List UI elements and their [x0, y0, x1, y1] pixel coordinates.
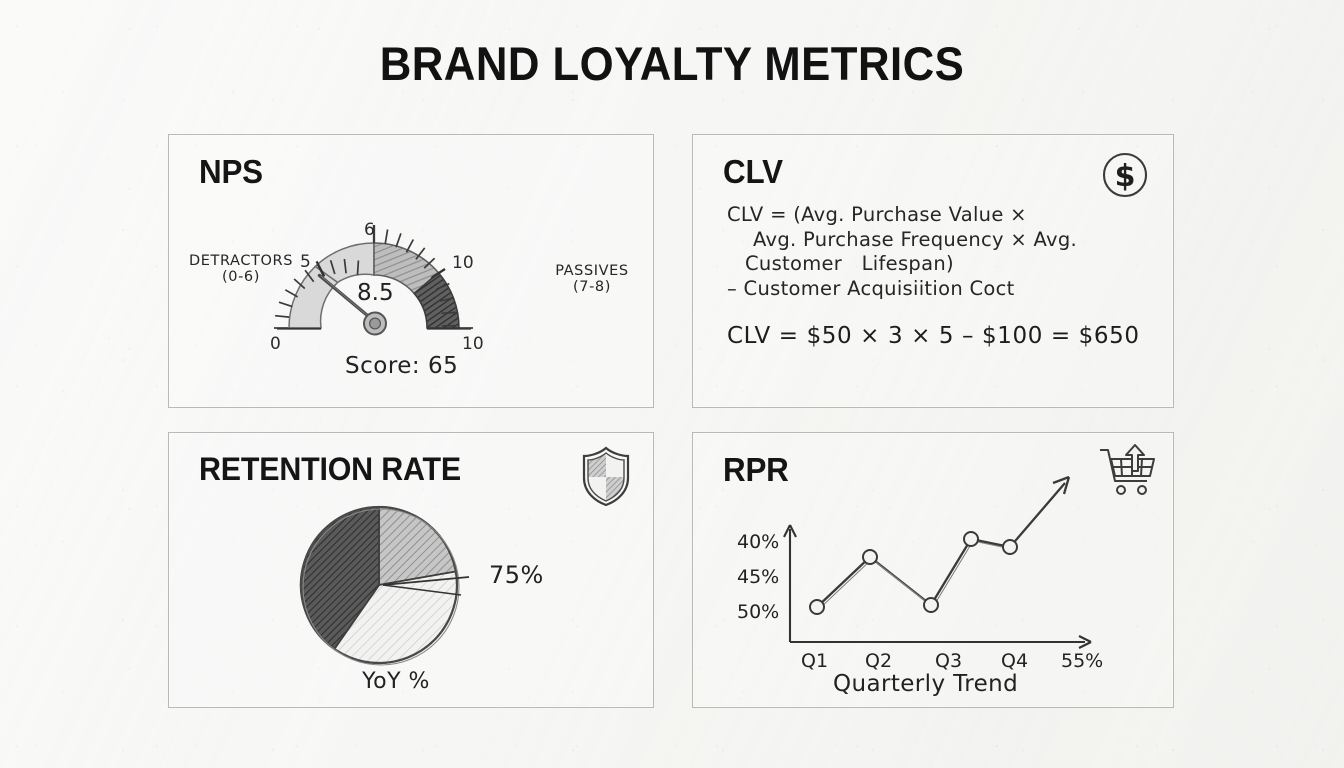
- nps-scale-min: 0: [270, 334, 281, 354]
- retention-callout-label: 75%: [489, 561, 544, 589]
- rpr-xtick-2: Q3: [935, 650, 962, 672]
- retention-pie-chart: [169, 433, 653, 707]
- nps-scale-max: 10: [462, 334, 484, 354]
- panel-clv: CLV $ CLV = (Avg. Purchase Value × Avg. …: [692, 134, 1174, 408]
- nps-tick-5: 5: [300, 252, 311, 272]
- clv-formula-line-3: Customer Lifespan): [727, 252, 1155, 277]
- nps-passives-line2: (7-8): [537, 279, 647, 295]
- nps-tick-10-arc: 10: [452, 253, 474, 273]
- nps-score-label: Score: 65: [169, 353, 653, 379]
- rpr-caption: Quarterly Trend: [833, 671, 1018, 697]
- rpr-ytick-2: 50%: [737, 601, 779, 623]
- nps-detractors-line2: (0-6): [181, 269, 301, 285]
- rpr-xtick-0: Q1: [801, 650, 828, 672]
- nps-passives-line1: PASSIVES: [537, 263, 647, 279]
- clv-formula-line-2: Avg. Purchase Frequency × Avg.: [727, 228, 1155, 253]
- clv-result: CLV = $50 × 3 × 5 – $100 = $650: [727, 323, 1140, 349]
- svg-text:$: $: [1115, 159, 1136, 194]
- clv-formula-line-4: – Customer Acquisiition Coct: [727, 277, 1155, 302]
- rpr-xtick-3: Q4: [1001, 650, 1028, 672]
- rpr-xtick-4: 55%: [1061, 650, 1103, 672]
- panel-nps: NPS: [168, 134, 654, 408]
- rpr-xtick-1: Q2: [865, 650, 892, 672]
- rpr-ytick-1: 45%: [737, 566, 779, 588]
- panel-rpr: RPR 40: [692, 432, 1174, 708]
- page-title: BRAND LOYALTY METRICS: [47, 36, 1297, 91]
- panel-retention: RETENTION RATE: [168, 432, 654, 708]
- nps-tick-6: 6: [364, 220, 375, 240]
- dollar-circle-icon: $: [1099, 149, 1151, 201]
- clv-formula-line-1: CLV = (Avg. Purchase Value ×: [727, 203, 1155, 228]
- rpr-line-chart: 40% 45% 50% Q1 Q2 Q3 Q4 55%: [693, 433, 1173, 707]
- nps-passives-label: PASSIVES (7-8): [537, 263, 647, 295]
- nps-value-label: 8.5: [357, 280, 394, 306]
- nps-detractors-label: DETRACTORS (0-6): [181, 253, 301, 285]
- nps-detractors-line1: DETRACTORS: [181, 253, 301, 269]
- panel-title-clv: CLV: [723, 153, 783, 191]
- retention-caption: YoY %: [169, 669, 653, 694]
- clv-formula: CLV = (Avg. Purchase Value × Avg. Purcha…: [727, 203, 1155, 301]
- rpr-ytick-0: 40%: [737, 531, 779, 553]
